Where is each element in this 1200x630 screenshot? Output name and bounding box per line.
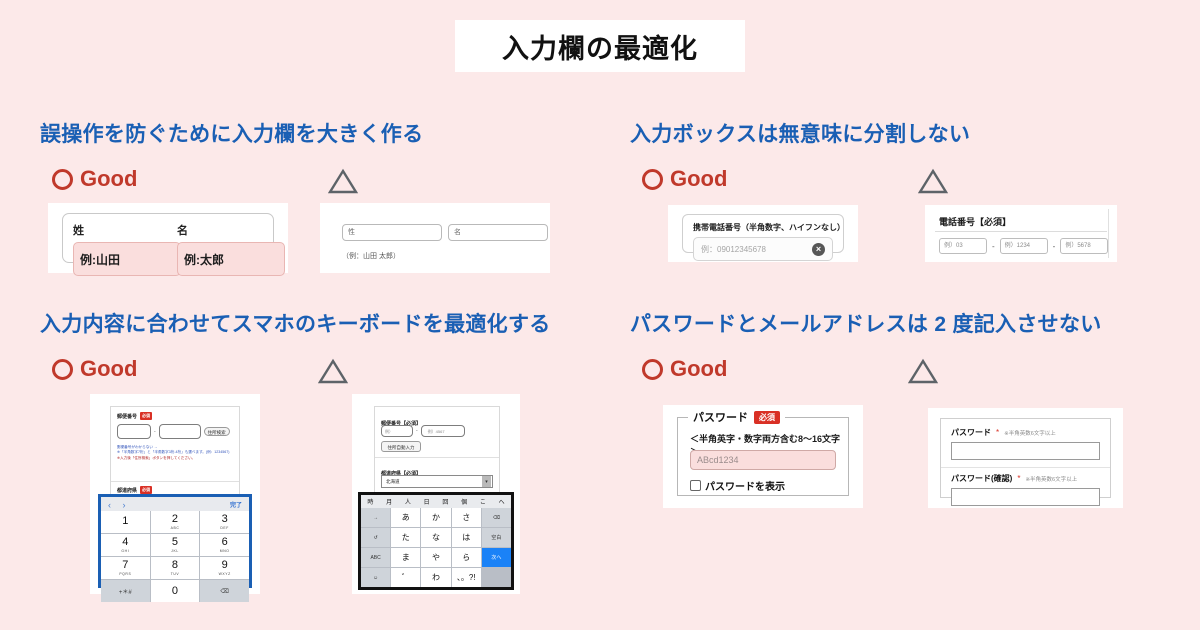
phone-fieldset: 携帯電話番号（半角数字、ハイフンなし） 例：09012345678 × <box>682 214 844 253</box>
name-hint-text: （例：山田 太郎） <box>342 251 400 261</box>
section-4-markers: Good <box>630 356 1170 390</box>
required-badge: 必須 <box>140 412 152 420</box>
field-group-lastname: 姓 例:山田 <box>73 222 181 276</box>
bad-marker-3 <box>318 358 348 384</box>
zip-label: 郵便番号 <box>117 413 137 420</box>
key-arrow-right[interactable]: → <box>361 508 390 527</box>
keypad-grid: 1 2ABC 3DEF 4GHI 5JKL 6MNO 7PQRS 8TUV 9W… <box>101 511 249 602</box>
zip-note-3: ※入力後「住所検索」ボタンを押してください。 <box>117 456 235 461</box>
key-space[interactable]: 空白 <box>482 528 511 547</box>
circle-icon <box>52 359 73 380</box>
phone-part-1[interactable]: 例）03 <box>939 238 987 254</box>
phone-part-2[interactable]: 例）1234 <box>1000 238 1048 254</box>
suggestion-6[interactable]: 個 <box>455 497 474 506</box>
key-letters: MNO <box>220 549 230 553</box>
phone-input[interactable]: 例：09012345678 × <box>693 237 833 261</box>
zip-input-1[interactable]: 例） <box>381 425 413 437</box>
key-a[interactable]: あ <box>391 508 420 527</box>
key-wa[interactable]: わ <box>421 568 450 587</box>
slide-root: 入力欄の最適化 誤操作を防ぐために入力欄を大きく作る Good 姓 例:山田 名 <box>0 0 1200 630</box>
password-2-note: ※半角英数6文字以上 <box>1025 475 1077 483</box>
key-number: 9 <box>222 560 228 571</box>
section-3-heading: 入力内容に合わせてスマホのキーボードを最適化する <box>40 308 620 338</box>
key-4[interactable]: 4GHI <box>101 534 150 556</box>
good-label: Good <box>670 356 727 382</box>
section-2: 入力ボックスは無意味に分割しない Good <box>630 118 1170 200</box>
key-letters: GHI <box>121 549 129 553</box>
password-group-2: パスワード(確認) * ※半角英数6文字以上 <box>951 473 1100 506</box>
key-number: 2 <box>172 514 178 525</box>
good-marker-4: Good <box>642 356 727 382</box>
circle-icon <box>642 359 663 380</box>
key-symbol-label: ⌫ <box>220 588 228 595</box>
suggestion-1[interactable]: 時 <box>361 497 380 506</box>
password-1-input[interactable] <box>951 442 1100 460</box>
key-8[interactable]: 8TUV <box>151 557 200 579</box>
firstname-input-small[interactable]: 名 <box>448 224 548 241</box>
show-password-row[interactable]: パスワードを表示 <box>690 478 785 493</box>
example-bad-phone-split: 電話番号【必須】 例）03 - 例）1234 - 例）5678 <box>925 205 1117 262</box>
zip-notes: 郵便番号がわからない → ※「半角数字7桁」と「半角数字3桁-4桁」も選べます。… <box>117 445 235 461</box>
zip-input-row: - 住所検索 <box>117 424 230 439</box>
prefecture-value: 北海道 <box>386 479 400 485</box>
example-bad-kana-keyboard: 郵便番号【必須】 例） - 例）4567 住所自動入力 都道府県【必須】 北海道… <box>352 394 520 594</box>
zip-input-2[interactable] <box>159 424 201 439</box>
bad-marker-1 <box>328 168 358 194</box>
key-letters: ABC <box>171 526 180 530</box>
key-0[interactable]: 0 <box>151 580 200 602</box>
key-letters: JKL <box>171 549 179 553</box>
phone-placeholder: 例：09012345678 <box>701 244 766 255</box>
good-label: Good <box>80 356 137 382</box>
show-password-label: パスワードを表示 <box>705 478 785 493</box>
field-group-firstname: 名 例:太郎 <box>177 222 285 276</box>
show-password-checkbox[interactable] <box>690 480 701 491</box>
key-letters: DEF <box>220 526 229 530</box>
key-ra[interactable]: ら <box>452 548 481 567</box>
key-undo[interactable]: ↺ <box>361 528 390 547</box>
example-good-name-fields: 姓 例:山田 名 例:太郎 <box>48 203 288 273</box>
lastname-input-small[interactable]: 性 <box>342 224 442 241</box>
key-number: 3 <box>222 514 228 525</box>
triangle-icon <box>908 358 938 384</box>
key-letters: WXYZ <box>219 572 231 576</box>
divider <box>375 457 499 458</box>
example-bad-name-fields: 性 名 （例：山田 太郎） <box>320 203 550 273</box>
pref-label: 都道府県 <box>117 487 137 494</box>
section-1-heading: 誤操作を防ぐために入力欄を大きく作る <box>40 118 600 148</box>
triangle-icon <box>328 168 358 194</box>
kana-grid: → あ か さ ⌫ ↺ た な は 空白 ABC ま や ら 次へ ☺ ゛ わ … <box>361 508 511 587</box>
circle-icon <box>52 169 73 190</box>
zip-input-2[interactable]: 例）4567 <box>421 425 465 437</box>
suggestion-5[interactable]: 回 <box>436 497 455 506</box>
circle-icon <box>642 169 663 190</box>
key-letters: TUV <box>171 572 180 576</box>
key-number: 0 <box>172 586 178 597</box>
password-legend: パスワード 必須 <box>688 409 785 425</box>
key-9[interactable]: 9WXYZ <box>200 557 249 579</box>
key-2[interactable]: 2ABC <box>151 511 200 533</box>
address-autofill-button[interactable]: 住所自動入力 <box>381 441 421 452</box>
key-next[interactable]: 次へ <box>482 548 511 567</box>
key-number: 7 <box>122 560 128 571</box>
good-label: Good <box>80 166 137 192</box>
phone-label: 携帯電話番号（半角数字、ハイフンなし） <box>693 222 843 233</box>
clear-circle-icon[interactable]: × <box>812 243 825 256</box>
key-number: 1 <box>122 516 128 527</box>
good-marker-2: Good <box>642 166 727 192</box>
password-label: パスワード <box>693 409 748 425</box>
chevron-right-icon[interactable]: › <box>122 500 125 510</box>
password-2-input[interactable] <box>951 488 1100 506</box>
zip-form-good: 郵便番号 必須 - 住所検索 郵便番号がわからない → ※「半角数字7桁」と「半… <box>110 406 240 498</box>
bad-marker-4 <box>908 358 938 384</box>
keyboard-done-button[interactable]: 完了 <box>230 500 242 509</box>
key-number: 8 <box>172 560 178 571</box>
backspace-icon[interactable]: ⌫ <box>200 580 249 602</box>
key-symbol-label: +＊# <box>119 587 132 596</box>
password-2-label: パスワード(確認) <box>951 473 1012 484</box>
password-input[interactable]: ABcd1234 <box>690 450 836 470</box>
triangle-icon <box>318 358 348 384</box>
key-ta[interactable]: た <box>391 528 420 547</box>
phone-separator: - <box>1053 242 1056 251</box>
suggestion-3[interactable]: 人 <box>399 497 418 506</box>
password-fieldset: パスワード 必須 ＜半角英字・数字両方含む8〜16文字＞ ABcd1234 パス… <box>677 417 849 496</box>
example-bad-double-password: パスワード * ※半角英数6文字以上 パスワード(確認) * ※半角英数6文字以… <box>928 408 1123 508</box>
phone-separator: - <box>992 242 995 251</box>
phone-part-3[interactable]: 例）5678 <box>1060 238 1108 254</box>
phone-split-label: 電話番号【必須】 <box>939 215 1011 228</box>
required-badge: 必須 <box>754 411 780 424</box>
divider <box>111 481 239 482</box>
good-marker-1: Good <box>52 166 137 192</box>
password-1-note: ※半角英数6文字以上 <box>1004 429 1056 437</box>
suggestion-4[interactable]: 日 <box>417 497 436 506</box>
page-title: 入力欄の最適化 <box>502 27 698 66</box>
zip-form-bad: 郵便番号【必須】 例） - 例）4567 住所自動入力 都道府県【必須】 北海道… <box>374 406 500 496</box>
required-star: * <box>996 428 999 437</box>
name-fieldset: 姓 例:山田 名 例:太郎 <box>62 213 274 263</box>
good-marker-3: Good <box>52 356 137 382</box>
kana-keyboard[interactable]: 時 月 人 日 回 個 こ へ → あ か さ ⌫ ↺ た な は 空白 ABC <box>358 492 514 590</box>
address-search-button[interactable]: 住所検索 <box>204 427 230 436</box>
zip-label-row: 郵便番号 必須 <box>117 412 152 420</box>
example-good-numeric-keyboard: 郵便番号 必須 - 住所検索 郵便番号がわからない → ※「半角数字7桁」と「半… <box>90 394 260 594</box>
required-badge: 必須 <box>140 486 152 494</box>
key-ha[interactable]: は <box>452 528 481 547</box>
divider <box>935 231 1107 232</box>
section-2-markers: Good <box>630 166 1170 200</box>
section-1-markers: Good <box>40 166 600 200</box>
key-symbols[interactable]: +＊# <box>101 580 150 602</box>
section-2-heading: 入力ボックスは無意味に分割しない <box>630 118 1170 148</box>
zip-input-1[interactable] <box>117 424 151 439</box>
required-star: * <box>1017 474 1020 483</box>
zip-input-row-bad: 例） - 例）4567 <box>381 425 465 437</box>
key-sa[interactable]: さ <box>452 508 481 527</box>
section-1: 誤操作を防ぐために入力欄を大きく作る Good <box>40 118 600 200</box>
key-ya[interactable]: や <box>421 548 450 567</box>
suggestion-bar[interactable]: 時 月 人 日 回 個 こ へ <box>361 495 511 508</box>
suggestion-2[interactable]: 月 <box>380 497 399 506</box>
section-4: パスワードとメールアドレスは 2 度記入させない Good <box>630 308 1170 390</box>
example-good-password: パスワード 必須 ＜半角英字・数字両方含む8〜16文字＞ ABcd1234 パス… <box>663 405 863 508</box>
password-1-label: パスワード <box>951 427 991 438</box>
key-dakuten[interactable]: ゛ <box>391 568 420 587</box>
chevron-down-icon[interactable]: ▾ <box>482 476 491 487</box>
key-number: 6 <box>222 537 228 548</box>
firstname-label: 名 <box>177 222 285 238</box>
lastname-input[interactable]: 例:山田 <box>73 242 181 276</box>
key-letters: PQRS <box>119 572 131 576</box>
password-1-head: パスワード * ※半角英数6文字以上 <box>951 427 1100 438</box>
password-2-head: パスワード(確認) * ※半角英数6文字以上 <box>951 473 1100 484</box>
key-abc[interactable]: ABC <box>361 548 390 567</box>
bad-marker-2 <box>918 168 948 194</box>
password-group-1: パスワード * ※半角英数6文字以上 <box>951 427 1100 460</box>
good-label: Good <box>670 166 727 192</box>
pref-label-row: 都道府県 必須 <box>117 486 152 494</box>
zip-note-2: ※「半角数字7桁」と「半角数字3桁-4桁」も選べます。(例：1234567) <box>117 450 235 455</box>
zip-separator: - <box>416 428 418 434</box>
numeric-keyboard[interactable]: ‹ › 完了 1 2ABC 3DEF 4GHI 5JKL 6MNO 7PQRS … <box>98 494 252 588</box>
key-3[interactable]: 3DEF <box>200 511 249 533</box>
key-ka[interactable]: か <box>421 508 450 527</box>
example-good-phone-field: 携帯電話番号（半角数字、ハイフンなし） 例：09012345678 × <box>668 205 858 262</box>
chevron-left-icon[interactable]: ‹ <box>108 500 111 510</box>
triangle-icon <box>918 168 948 194</box>
divider <box>1108 209 1109 258</box>
keyboard-toolbar: ‹ › 完了 <box>101 497 249 511</box>
phone-split-row: 例）03 - 例）1234 - 例）5678 <box>939 238 1108 254</box>
key-6[interactable]: 6MNO <box>200 534 249 556</box>
section-3-markers: Good <box>40 356 620 390</box>
key-number: 5 <box>172 537 178 548</box>
page-title-box: 入力欄の最適化 <box>455 20 745 72</box>
zip-separator: - <box>154 429 156 435</box>
key-punctuation[interactable]: 、。?! <box>452 568 481 587</box>
suggestion-7[interactable]: こ <box>474 497 493 506</box>
key-1[interactable]: 1 <box>101 511 150 533</box>
emoji-icon[interactable]: ☺ <box>361 568 390 587</box>
key-7[interactable]: 7PQRS <box>101 557 150 579</box>
divider <box>941 467 1110 468</box>
section-3: 入力内容に合わせてスマホのキーボードを最適化する Good <box>40 308 620 390</box>
prefecture-select[interactable]: 北海道 ▾ <box>381 475 493 488</box>
key-ma[interactable]: ま <box>391 548 420 567</box>
double-password-box: パスワード * ※半角英数6文字以上 パスワード(確認) * ※半角英数6文字以… <box>940 418 1111 498</box>
firstname-input[interactable]: 例:太郎 <box>177 242 285 276</box>
key-5[interactable]: 5JKL <box>151 534 200 556</box>
key-number: 4 <box>122 537 128 548</box>
key-na[interactable]: な <box>421 528 450 547</box>
lastname-label: 姓 <box>73 222 181 238</box>
suggestion-8[interactable]: へ <box>492 497 511 506</box>
section-4-heading: パスワードとメールアドレスは 2 度記入させない <box>630 308 1170 338</box>
backspace-icon[interactable]: ⌫ <box>482 508 511 527</box>
